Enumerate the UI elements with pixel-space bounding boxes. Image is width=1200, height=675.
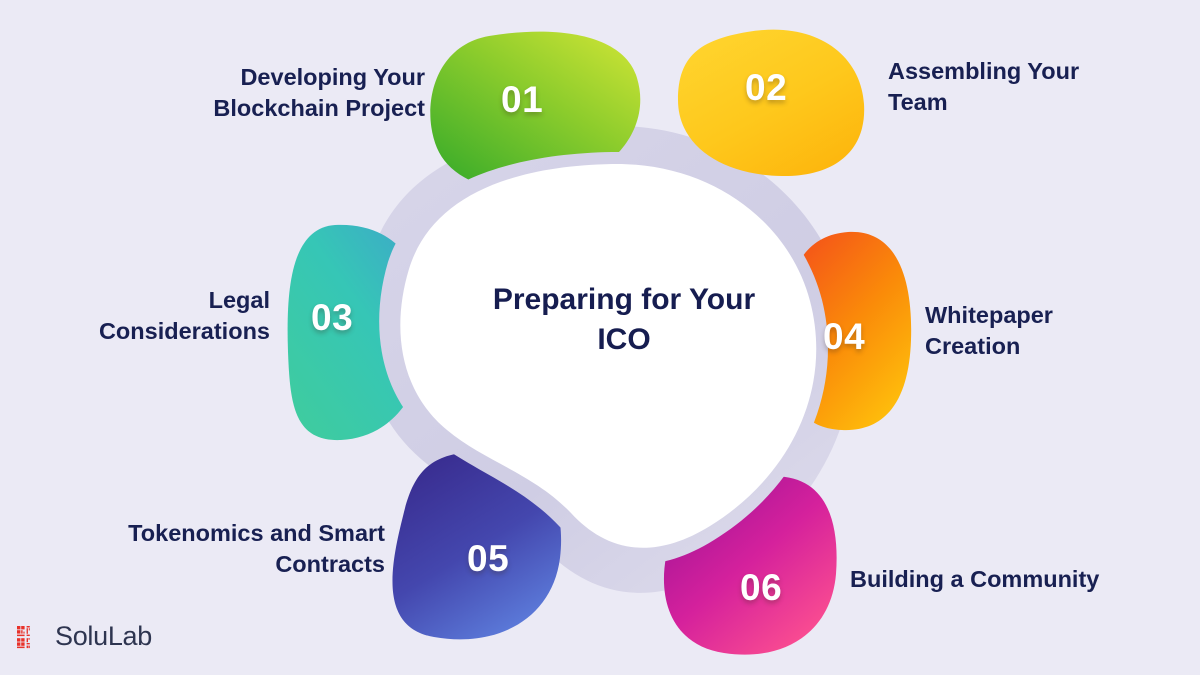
step-number-04: 04: [823, 316, 865, 358]
step-number-06: 06: [740, 567, 782, 609]
step-label-06: Building a Community: [850, 564, 1170, 595]
step-label-02: Assembling Your Team: [888, 56, 1168, 118]
step-label-05: Tokenomics and Smart Contracts: [60, 518, 385, 580]
step-label-01: Developing Your Blockchain Project: [110, 62, 425, 124]
step-number-03: 03: [311, 297, 353, 339]
step-label-03: Legal Considerations: [40, 285, 270, 347]
step-number-01: 01: [501, 79, 543, 121]
brand-name: SoluLab: [55, 621, 152, 652]
center-title: Preparing for Your ICO: [424, 280, 824, 360]
brand-logo: SoluLab: [16, 621, 152, 652]
infographic-canvas: Preparing for Your ICO 01 02 03 04 05 06…: [0, 0, 1200, 675]
step-label-04: Whitepaper Creation: [925, 300, 1175, 362]
solulab-qr-logo-icon: [16, 622, 46, 652]
step-number-05: 05: [467, 538, 509, 580]
step-number-02: 02: [745, 67, 787, 109]
